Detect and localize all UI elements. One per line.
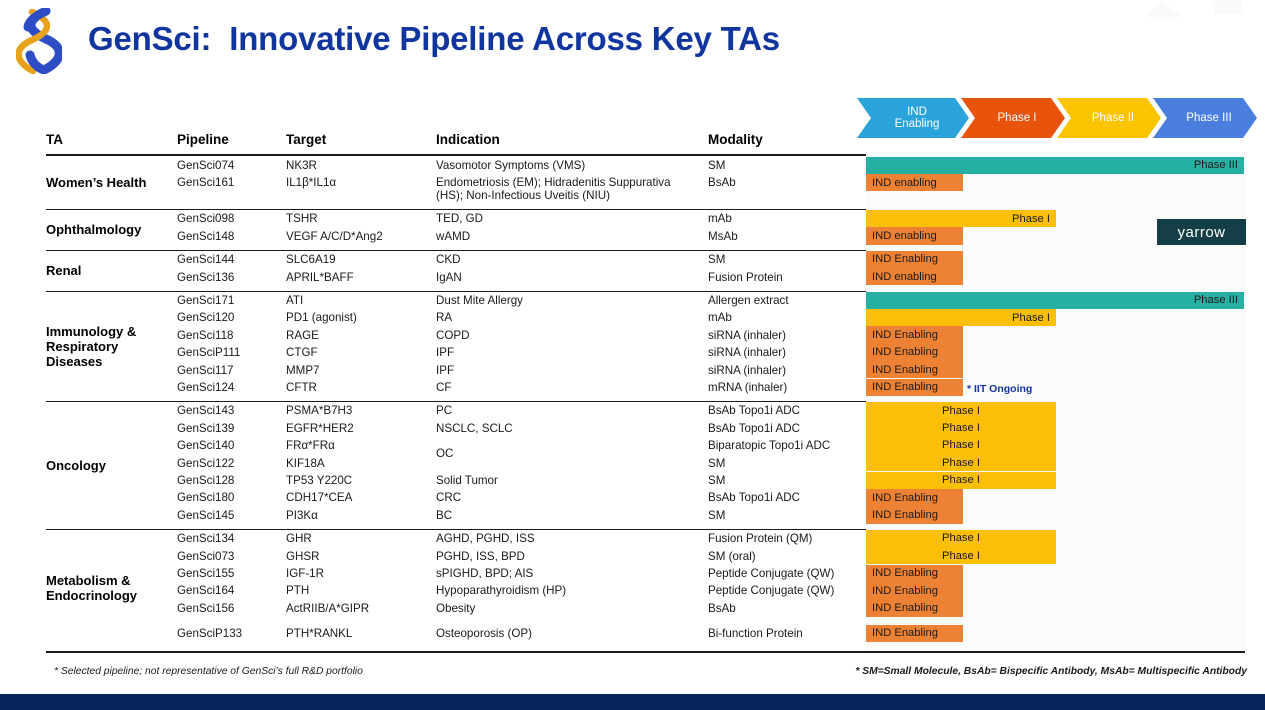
cell-pipeline: GenSci118 [177, 329, 285, 342]
cell-modality: BsAb Topo1i ADC [708, 404, 858, 417]
cell-modality: BsAb Topo1i ADC [708, 491, 858, 504]
phase-legend-arrow-1: Phase I [961, 98, 1065, 138]
phase-legend-arrow-0: IND Enabling [857, 98, 969, 138]
cell-target: PSMA*B7H3 [286, 404, 434, 417]
cell-pipeline: GenSci164 [177, 584, 285, 597]
cell-pipeline: GenSci156 [177, 602, 285, 615]
cell-target: GHR [286, 532, 434, 545]
cell-indication: CF [436, 381, 704, 394]
cell-indication: Obesity [436, 602, 704, 615]
phase-bar-ind: IND Enabling [866, 582, 963, 599]
cell-target: PD1 (agonist) [286, 311, 434, 324]
cell-pipeline: GenSci143 [177, 404, 285, 417]
cell-target: IGF-1R [286, 567, 434, 580]
cell-indication: RA [436, 311, 704, 324]
cell-indication: IPF [436, 364, 704, 377]
cell-indication: CRC [436, 491, 704, 504]
cell-indication: AGHD, PGHD, ISS [436, 532, 704, 545]
cell-pipeline: GenSci128 [177, 474, 285, 487]
cell-target: NK3R [286, 159, 434, 172]
cell-indication: Hypoparathyroidism (HP) [436, 584, 704, 597]
phase-bar-phase1: Phase I [866, 210, 1056, 227]
ta-label: Women’s Health [46, 175, 176, 190]
cell-target: KIF18A [286, 457, 434, 470]
cell-pipeline: GenSci122 [177, 457, 285, 470]
corner-artifact-1 [1146, 0, 1182, 17]
cell-indication: OC [436, 447, 704, 460]
cell-modality: Fusion Protein (QM) [708, 532, 858, 545]
phase-bar-ind: IND Enabling [866, 625, 963, 642]
phase-bar-ind: IND Enabling [866, 344, 963, 361]
ta-label: Ophthalmology [46, 222, 176, 237]
phase-bar-ind: IND enabling [866, 174, 963, 191]
cell-modality: BsAb Topo1i ADC [708, 422, 858, 435]
phase-bar-ind: IND Enabling [866, 599, 963, 616]
cell-target: PI3Kα [286, 509, 434, 522]
cell-target: VEGF A/C/D*Ang2 [286, 230, 434, 243]
cell-indication: Osteoporosis (OP) [436, 627, 704, 640]
footer-bar [0, 694, 1265, 710]
cell-modality: Peptide Conjugate (QW) [708, 584, 858, 597]
phase-bar-phase3: Phase III [866, 157, 1244, 174]
cell-target: TP53 Y220C [286, 474, 434, 487]
cell-pipeline: GenSci117 [177, 364, 285, 377]
cell-pipeline: GenSci124 [177, 381, 285, 394]
cell-modality: mAb [708, 311, 858, 324]
cell-modality: Fusion Protein [708, 271, 858, 284]
phase-bar-ind: IND Enabling [866, 251, 963, 268]
phase-bar-phase1: Phase I [866, 454, 1056, 471]
cell-modality: SM [708, 474, 858, 487]
cell-modality: siRNA (inhaler) [708, 364, 858, 377]
cell-indication: PC [436, 404, 704, 417]
cell-pipeline: GenSci136 [177, 271, 285, 284]
cell-target: TSHR [286, 212, 434, 225]
cell-target: IL1β*IL1α [286, 176, 434, 189]
cell-modality: SM [708, 253, 858, 266]
cell-pipeline: GenSciP111 [177, 346, 285, 359]
cell-target: FRα*FRα [286, 439, 434, 452]
phase-bar-ind: IND Enabling [866, 565, 963, 582]
cell-pipeline: GenSci140 [177, 439, 285, 452]
phase-bar-ind: IND Enabling [866, 361, 963, 378]
cell-modality: MsAb [708, 230, 858, 243]
phase-bar-phase1: Phase I [866, 472, 1056, 489]
cell-indication: BC [436, 509, 704, 522]
cell-indication: TED, GD [436, 212, 704, 225]
ta-label: Immunology & Respiratory Diseases [46, 324, 176, 369]
ta-label: Metabolism & Endocrinology [46, 573, 176, 603]
cell-modality: SM [708, 159, 858, 172]
cell-pipeline: GenSci171 [177, 294, 285, 307]
cell-target: PTH*RANKL [286, 627, 434, 640]
column-header-ta: TA [46, 132, 63, 147]
phase-legend-arrow-2: Phase II [1057, 98, 1161, 138]
corner-artifact-2 [1213, 0, 1243, 14]
phase-bar-ind: IND enabling [866, 227, 963, 244]
cell-target: PTH [286, 584, 434, 597]
cell-target: GHSR [286, 550, 434, 563]
page-title: GenSci: Innovative Pipeline Across Key T… [88, 20, 780, 58]
phase-bar-phase1: Phase I [866, 547, 1056, 564]
cell-pipeline: GenSci134 [177, 532, 285, 545]
cell-target: CTGF [286, 346, 434, 359]
cell-target: RAGE [286, 329, 434, 342]
cell-pipeline: GenSci161 [177, 176, 285, 189]
cell-modality: Peptide Conjugate (QW) [708, 567, 858, 580]
iit-ongoing-note: * IIT Ongoing [967, 383, 1032, 395]
phase-bar-ind: IND enabling [866, 268, 963, 285]
cell-indication: Endometriosis (EM); Hidradenitis Suppura… [436, 176, 704, 202]
phase-bar-phase1: Phase I [866, 530, 1056, 547]
cell-pipeline: GenSci120 [177, 311, 285, 324]
cell-target: EGFR*HER2 [286, 422, 434, 435]
cell-pipeline: GenSci144 [177, 253, 285, 266]
phase-bar-phase1: Phase I [866, 402, 1056, 419]
cell-modality: siRNA (inhaler) [708, 329, 858, 342]
cell-indication: COPD [436, 329, 704, 342]
cell-target: ATI [286, 294, 434, 307]
phase-bar-ind: IND Enabling [866, 489, 963, 506]
cell-pipeline: GenSci148 [177, 230, 285, 243]
column-header-target: Target [286, 132, 326, 147]
phase-bar-ind: IND Enabling [866, 379, 963, 396]
cell-modality: mAb [708, 212, 858, 225]
cell-indication: CKD [436, 253, 704, 266]
cell-modality: BsAb [708, 602, 858, 615]
cell-indication: PGHD, ISS, BPD [436, 550, 704, 563]
yarrow-watermark: yarrow [1157, 219, 1246, 245]
dna-helix-logo [16, 8, 62, 74]
cell-modality: mRNA (inhaler) [708, 381, 858, 394]
slide-header: GenSci: Innovative Pipeline Across Key T… [0, 0, 1265, 86]
cell-pipeline: GenSci073 [177, 550, 285, 563]
cell-pipeline: GenSci180 [177, 491, 285, 504]
phase-bar-ind: IND Enabling [866, 326, 963, 343]
phase-bar-phase1: Phase I [866, 437, 1056, 454]
cell-modality: Bi-function Protein [708, 627, 858, 640]
cell-modality: Allergen extract [708, 294, 858, 307]
cell-modality: SM (oral) [708, 550, 858, 563]
cell-target: CFTR [286, 381, 434, 394]
phase-legend-arrow-3: Phase III [1153, 98, 1257, 138]
cell-indication: sPIGHD, BPD; AIS [436, 567, 704, 580]
cell-modality: SM [708, 457, 858, 470]
phase-bar-ind: IND Enabling [866, 506, 963, 523]
cell-target: CDH17*CEA [286, 491, 434, 504]
cell-indication: NSCLC, SCLC [436, 422, 704, 435]
cell-indication: Solid Tumor [436, 474, 704, 487]
phase-bar-phase1: Phase I [866, 309, 1056, 326]
cell-indication: IgAN [436, 271, 704, 284]
column-header-pipeline: Pipeline [177, 132, 229, 147]
ta-label: Oncology [46, 458, 176, 473]
cell-pipeline: GenSci098 [177, 212, 285, 225]
cell-pipeline: GenSciP133 [177, 627, 285, 640]
cell-indication: wAMD [436, 230, 704, 243]
cell-indication: IPF [436, 346, 704, 359]
footer-rule [46, 651, 1245, 653]
pipeline-slide: GenSci: Innovative Pipeline Across Key T… [0, 0, 1265, 710]
cell-target: SLC6A19 [286, 253, 434, 266]
footnote-left: * Selected pipeline; not representative … [54, 666, 363, 677]
cell-indication: Dust Mite Allergy [436, 294, 704, 307]
cell-target: APRIL*BAFF [286, 271, 434, 284]
column-header-modality: Modality [708, 132, 763, 147]
cell-pipeline: GenSci155 [177, 567, 285, 580]
phase-bar-phase3: Phase III [866, 292, 1244, 309]
ta-label: Renal [46, 263, 176, 278]
cell-pipeline: GenSci139 [177, 422, 285, 435]
cell-indication: Vasomotor Symptoms (VMS) [436, 159, 704, 172]
cell-pipeline: GenSci074 [177, 159, 285, 172]
cell-modality: siRNA (inhaler) [708, 346, 858, 359]
phase-bar-phase1: Phase I [866, 419, 1056, 436]
footnote-right: * SM=Small Molecule, BsAb= Bispecific An… [855, 666, 1247, 677]
cell-modality: Biparatopic Topo1i ADC [708, 439, 858, 452]
column-header-indication: Indication [436, 132, 500, 147]
cell-pipeline: GenSci145 [177, 509, 285, 522]
cell-modality: SM [708, 509, 858, 522]
cell-modality: BsAb [708, 176, 858, 189]
cell-target: MMP7 [286, 364, 434, 377]
cell-target: ActRIIB/A*GIPR [286, 602, 434, 615]
